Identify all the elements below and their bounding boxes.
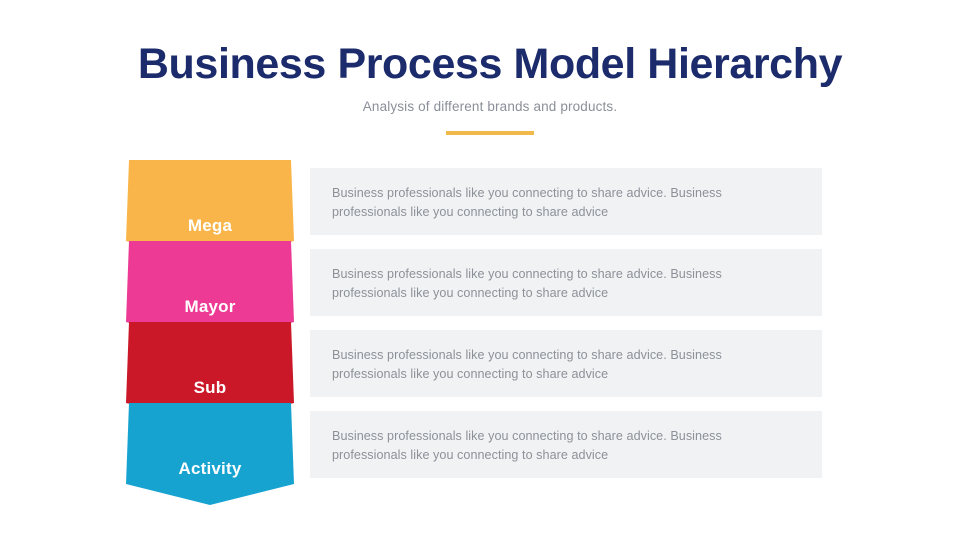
description-text: Business professionals like you connecti…	[332, 184, 800, 221]
description-panel: Business professionals like you connecti…	[310, 411, 822, 478]
description-text: Business professionals like you connecti…	[332, 265, 800, 302]
description-panel: Business professionals like you connecti…	[310, 330, 822, 397]
description-text: Business professionals like you connecti…	[332, 346, 800, 383]
hierarchy-level-row: Sub Business professionals like you conn…	[0, 322, 980, 403]
description-panel: Business professionals like you connecti…	[310, 168, 822, 235]
chevron-down-icon	[126, 403, 294, 505]
hierarchy-level-row: Mayor Business professionals like you co…	[0, 241, 980, 322]
slide-header: Business Process Model Hierarchy Analysi…	[0, 0, 980, 135]
hierarchy-diagram: Mega Business professionals like you con…	[0, 160, 980, 505]
title-divider	[446, 131, 534, 135]
description-text: Business professionals like you connecti…	[332, 427, 800, 464]
chevron-shape	[126, 403, 294, 505]
hierarchy-level-row: Activity Business professionals like you…	[0, 403, 980, 484]
hierarchy-level-row: Mega Business professionals like you con…	[0, 160, 980, 241]
description-panel: Business professionals like you connecti…	[310, 249, 822, 316]
page-subtitle: Analysis of different brands and product…	[0, 88, 980, 114]
chevron-activity[interactable]: Activity	[126, 403, 294, 505]
page-title: Business Process Model Hierarchy	[0, 0, 980, 88]
